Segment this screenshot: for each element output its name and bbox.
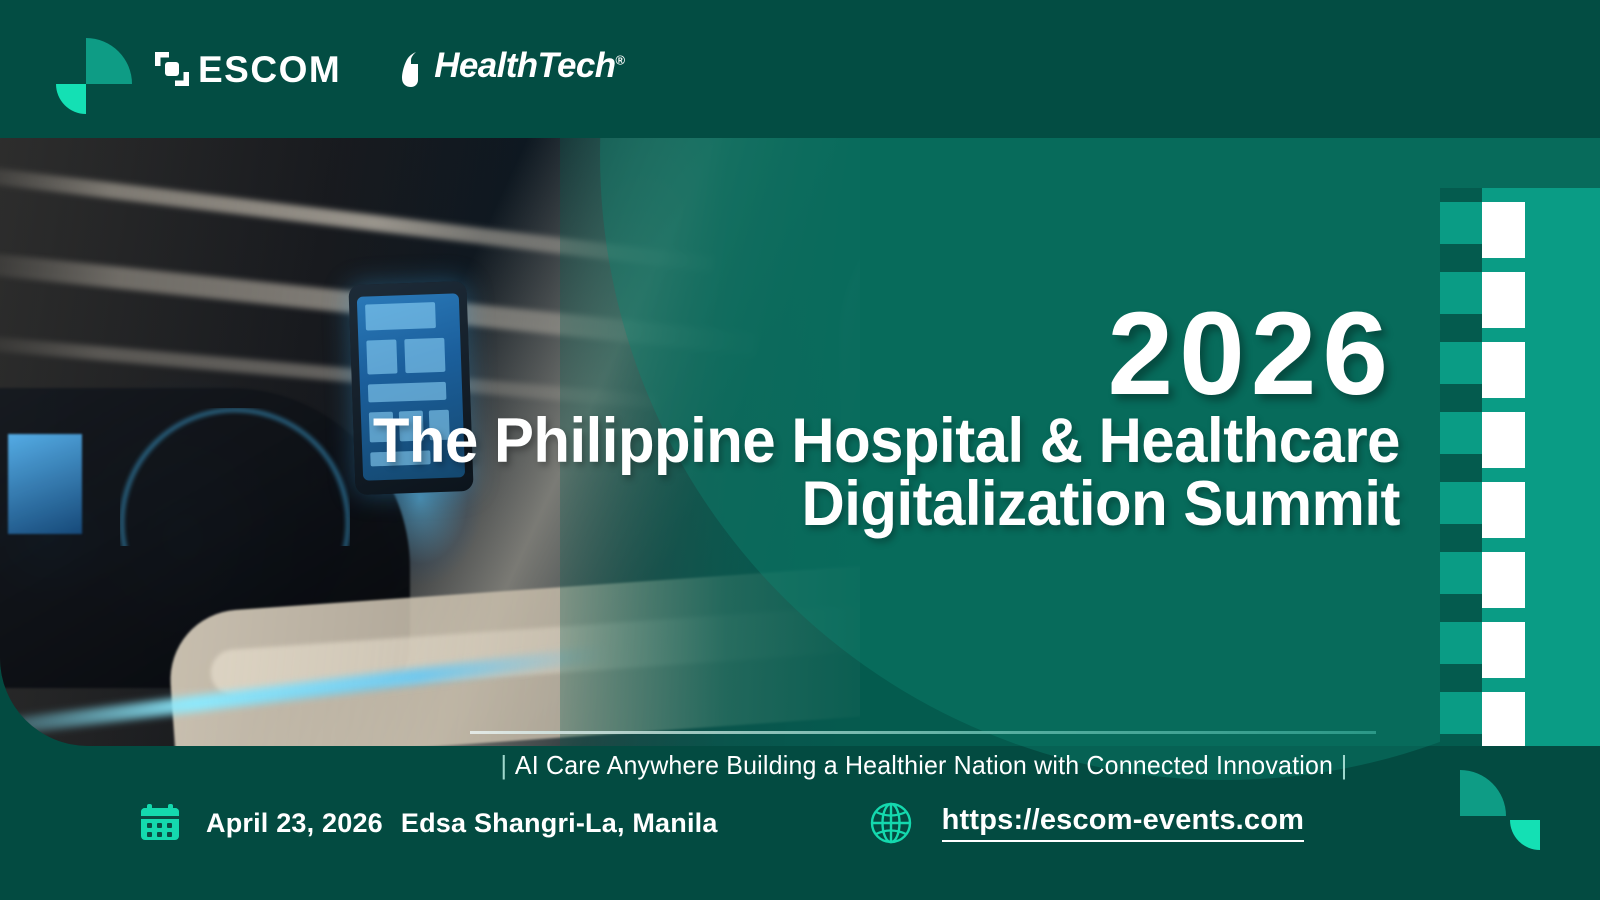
checker-gap — [1440, 664, 1482, 678]
checker-gap — [1440, 678, 1482, 692]
checker-gap — [1440, 188, 1482, 202]
checker-cell — [1482, 482, 1525, 538]
website-url[interactable]: https://escom-events.com — [942, 804, 1305, 842]
checker-cell — [1482, 552, 1525, 608]
checker-cell — [1482, 692, 1525, 746]
healthtech-wordmark-text: HealthTech — [434, 46, 615, 85]
calendar-icon — [138, 801, 182, 845]
checker-cell — [1482, 342, 1525, 398]
footer-bar: April 23, 2026Edsa Shangri-La, Manila ht… — [0, 746, 1600, 900]
checker-gap — [1440, 454, 1482, 468]
checker-gap — [1440, 608, 1482, 622]
checker-gap — [1440, 594, 1482, 608]
event-date: April 23, 2026 — [206, 808, 383, 838]
checker-gap — [1440, 244, 1482, 258]
checkerboard-strip — [1440, 188, 1600, 746]
bedside-tablet — [348, 281, 473, 495]
event-venue: Edsa Shangri-La, Manila — [401, 808, 718, 838]
brand-lockup-group: ESCOM HealthTech® — [152, 48, 625, 90]
window-panel — [8, 434, 82, 534]
checker-gap — [1440, 538, 1482, 552]
hero-image-band — [0, 138, 1600, 746]
event-website[interactable]: https://escom-events.com — [868, 800, 1305, 846]
escom-logo: ESCOM — [152, 49, 341, 89]
corner-mark-top-left — [54, 38, 132, 116]
escom-wordmark: ESCOM — [198, 51, 341, 88]
checker-gap — [1440, 468, 1482, 482]
event-date-venue: April 23, 2026Edsa Shangri-La, Manila — [138, 801, 718, 845]
checker-gap — [1440, 258, 1482, 272]
quarter-circle-large-icon — [86, 38, 132, 84]
checker-cell — [1482, 202, 1525, 258]
date-venue-text: April 23, 2026Edsa Shangri-La, Manila — [206, 808, 718, 839]
quarter-circle-small-icon — [1510, 820, 1540, 850]
checker-gap — [1440, 398, 1482, 412]
healthtech-logo: HealthTech® — [397, 48, 624, 90]
checker-gap — [1440, 328, 1482, 342]
tablet-screen — [357, 293, 465, 480]
header-bar: ESCOM HealthTech® — [0, 0, 1600, 138]
checker-gap — [1440, 384, 1482, 398]
checker-gap — [1440, 734, 1482, 746]
teal-overlay-solid — [860, 138, 1450, 746]
healthtech-leaf-logo-icon — [397, 50, 427, 90]
quarter-circle-large-icon — [1460, 770, 1506, 816]
checker-cell — [1482, 412, 1525, 468]
quarter-circle-small-icon — [56, 84, 86, 114]
healthtech-wordmark: HealthTech® — [434, 48, 624, 85]
checker-gap — [1440, 524, 1482, 538]
globe-icon — [868, 800, 914, 846]
corner-mark-bottom-right — [1460, 770, 1538, 848]
checker-cell — [1482, 622, 1525, 678]
checker-cell — [1482, 272, 1525, 328]
event-poster: ESCOM HealthTech® — [0, 0, 1600, 900]
checker-gap — [1440, 314, 1482, 328]
registered-mark: ® — [616, 52, 625, 67]
escom-bracket-logo-icon — [152, 49, 192, 89]
